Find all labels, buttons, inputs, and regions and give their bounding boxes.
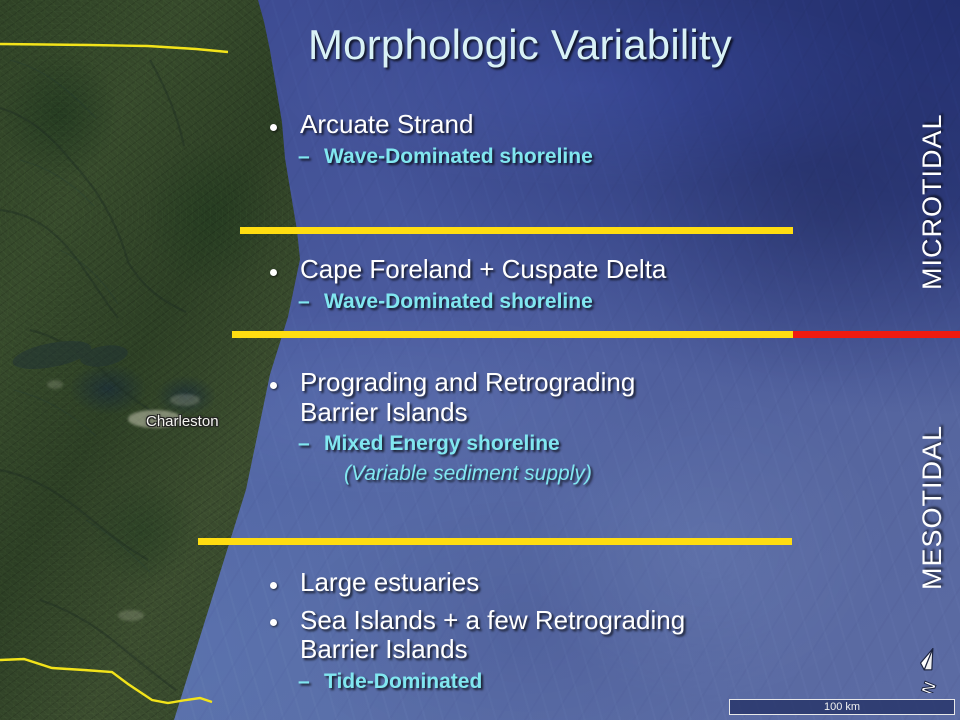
sub-bullet-item: – Wave-Dominated shoreline bbox=[262, 145, 862, 169]
page-title: Morphologic Variability bbox=[210, 22, 830, 68]
tidal-zone-label-mesotidal: MESOTIDAL bbox=[917, 425, 948, 590]
sub-bullet-label: Mixed Energy shoreline bbox=[324, 432, 560, 455]
map-scale-bar: 100 km bbox=[729, 699, 955, 715]
sub-bullet-note: (Variable sediment supply) bbox=[262, 462, 682, 486]
content-group-1: Arcuate Strand – Wave-Dominated shorelin… bbox=[262, 110, 862, 169]
bullet-dot-icon bbox=[270, 269, 277, 276]
bullet-item: Sea Islands + a few Retrograding Barrier… bbox=[262, 606, 732, 665]
dash-icon: – bbox=[298, 670, 310, 694]
bullet-item: Prograding and Retrograding Barrier Isla… bbox=[262, 368, 682, 427]
bullet-dot-icon bbox=[270, 619, 277, 626]
divider-line-1 bbox=[240, 227, 793, 234]
sub-bullet-label: Tide-Dominated bbox=[324, 670, 482, 693]
state-boundary-lines bbox=[0, 0, 300, 720]
sub-bullet-item: – Mixed Energy shoreline bbox=[262, 432, 682, 456]
bullet-label: Arcuate Strand bbox=[300, 109, 473, 139]
content-group-3: Prograding and Retrograding Barrier Isla… bbox=[262, 368, 682, 487]
bullet-item: Cape Foreland + Cuspate Delta bbox=[262, 255, 862, 285]
map-place-label-charleston: Charleston bbox=[146, 413, 219, 430]
bullet-item: Large estuaries bbox=[262, 568, 732, 598]
sub-bullet-item: – Tide-Dominated bbox=[262, 670, 732, 694]
content-group-4: Large estuaries Sea Islands + a few Retr… bbox=[262, 568, 732, 694]
dash-icon: – bbox=[298, 290, 310, 314]
bullet-label: Prograding and Retrograding Barrier Isla… bbox=[300, 367, 635, 427]
bullet-item: Arcuate Strand bbox=[262, 110, 862, 140]
dash-icon: – bbox=[298, 145, 310, 169]
bullet-label: Large estuaries bbox=[300, 567, 479, 597]
bullet-label: Cape Foreland + Cuspate Delta bbox=[300, 254, 666, 284]
bullet-label: Sea Islands + a few Retrograding Barrier… bbox=[300, 605, 685, 665]
bullet-dot-icon bbox=[270, 382, 277, 389]
slide-canvas: Morphologic Variability Arcuate Strand –… bbox=[0, 0, 960, 720]
sub-bullet-label: Wave-Dominated shoreline bbox=[324, 290, 593, 313]
divider-line-3 bbox=[198, 538, 792, 545]
divider-line-2-yellow bbox=[232, 331, 793, 338]
divider-line-2-red bbox=[793, 331, 960, 338]
bullet-dot-icon bbox=[270, 124, 277, 131]
sub-bullet-item: – Wave-Dominated shoreline bbox=[262, 290, 862, 314]
content-group-2: Cape Foreland + Cuspate Delta – Wave-Dom… bbox=[262, 255, 862, 314]
svg-text:N: N bbox=[917, 679, 939, 693]
north-arrow-icon: N bbox=[910, 645, 950, 693]
tidal-zone-label-microtidal: MICROTIDAL bbox=[917, 113, 948, 290]
bullet-dot-icon bbox=[270, 582, 277, 589]
dash-icon: – bbox=[298, 432, 310, 456]
sub-bullet-label: Wave-Dominated shoreline bbox=[324, 145, 593, 168]
